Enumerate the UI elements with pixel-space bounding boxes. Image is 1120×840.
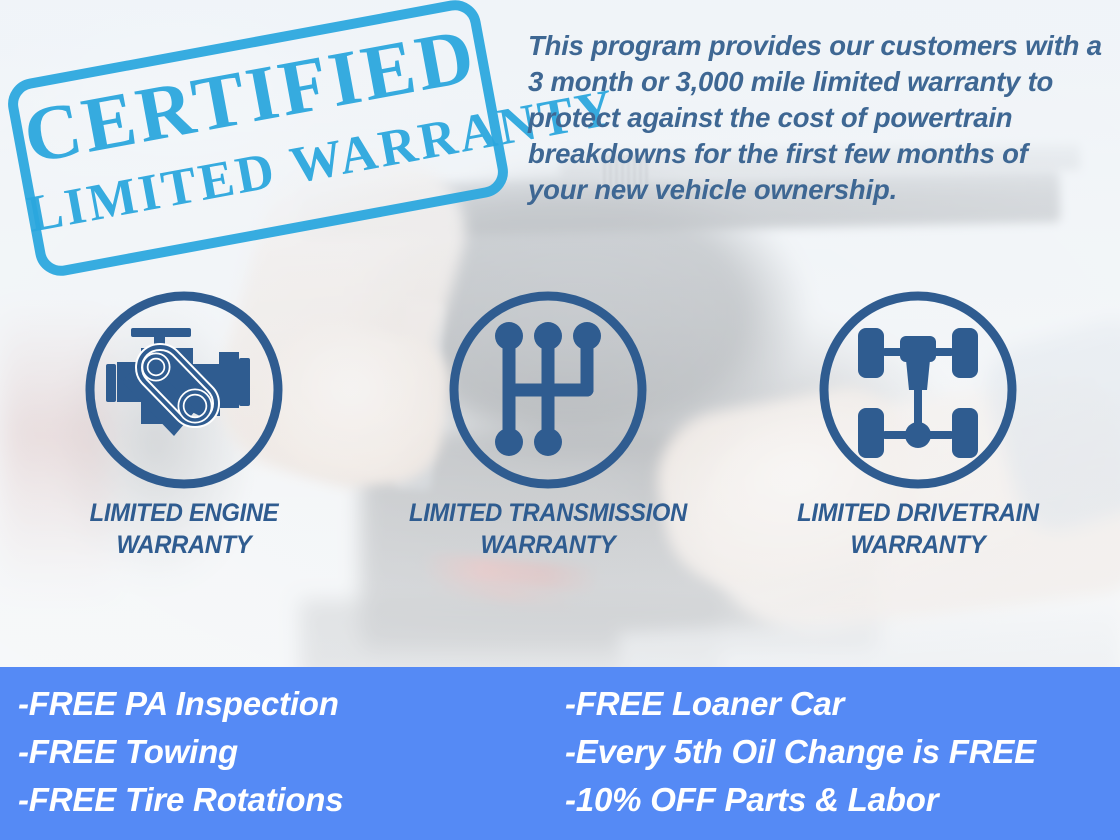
perk-item: -FREE Towing <box>18 728 343 776</box>
perk-item: -FREE Tire Rotations <box>18 776 343 824</box>
drivetrain-axle-icon <box>818 290 1018 490</box>
headline-line-2: 3 month or 3,000 mile limited warranty t… <box>528 64 1088 100</box>
perks-banner: -FREE PA Inspection -FREE Towing -FREE T… <box>0 667 1120 840</box>
badge-limited-drivetrain: LIMITED DRIVETRAIN WARRANTY <box>768 290 1068 561</box>
badge-label-engine-line2: WARRANTY <box>42 529 327 561</box>
promo-graphic: CERTIFIED LIMITED WARRANTY This program … <box>0 0 1120 840</box>
badge-label-engine-line1: LIMITED ENGINE <box>42 497 327 529</box>
badge-label-transmission-line2: WARRANTY <box>406 529 691 561</box>
perk-item: -10% OFF Parts & Labor <box>565 776 1036 824</box>
perk-item: -FREE Loaner Car <box>565 680 1036 728</box>
badge-label-transmission-line1: LIMITED TRANSMISSION <box>406 497 691 529</box>
badge-label-engine: LIMITED ENGINE WARRANTY <box>42 497 327 561</box>
badge-limited-engine: LIMITED ENGINE WARRANTY <box>34 290 334 561</box>
headline-line-4: breakdowns for the first few months of <box>528 136 1088 172</box>
badge-limited-transmission: LIMITED TRANSMISSION WARRANTY <box>398 290 698 561</box>
headline-line-1: This program provides our customers with… <box>528 28 1088 64</box>
badge-label-transmission: LIMITED TRANSMISSION WARRANTY <box>406 497 691 561</box>
badge-label-drivetrain: LIMITED DRIVETRAIN WARRANTY <box>776 497 1061 561</box>
perk-item: -Every 5th Oil Change is FREE <box>565 728 1036 776</box>
transmission-shifter-icon <box>448 290 648 490</box>
headline-line-3: protect against the cost of powertrain <box>528 100 1088 136</box>
program-description: This program provides our customers with… <box>528 28 1088 208</box>
badge-label-drivetrain-line1: LIMITED DRIVETRAIN <box>776 497 1061 529</box>
coverage-badges: LIMITED ENGINE WARRANTY <box>0 290 1120 580</box>
headline-line-5: your new vehicle ownership. <box>528 172 1088 208</box>
perk-item: -FREE PA Inspection <box>18 680 343 728</box>
perks-left-column: -FREE PA Inspection -FREE Towing -FREE T… <box>18 680 343 824</box>
perks-right-column: -FREE Loaner Car -Every 5th Oil Change i… <box>565 680 1036 824</box>
badge-label-drivetrain-line2: WARRANTY <box>776 529 1061 561</box>
engine-icon <box>84 290 284 490</box>
